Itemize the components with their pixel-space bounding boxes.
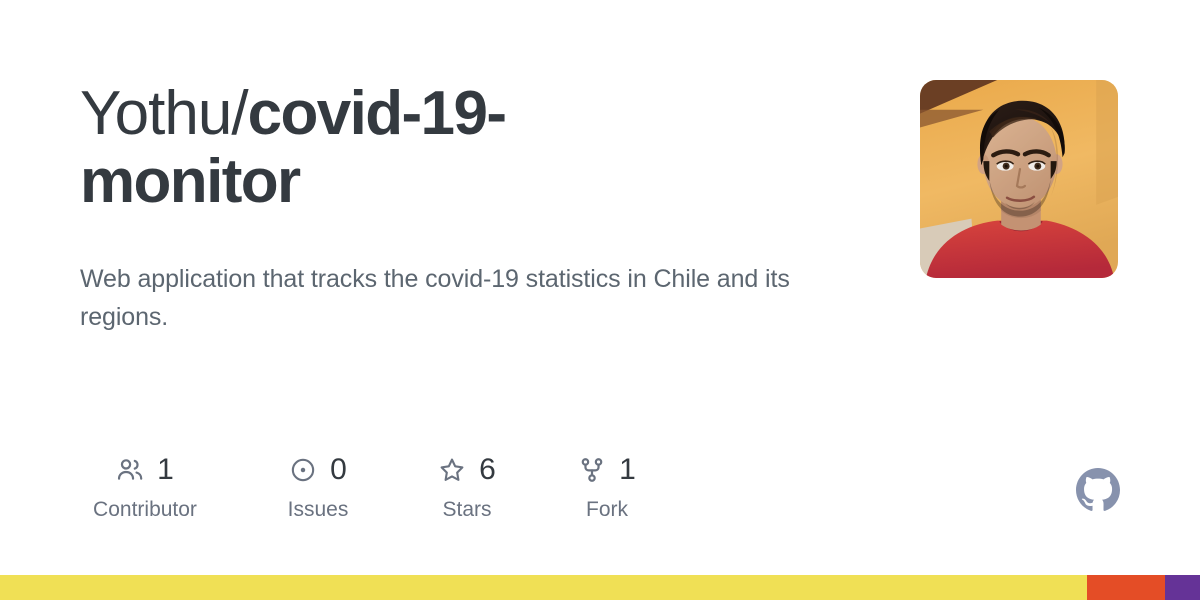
- stat-contributor-top: 1: [116, 452, 174, 488]
- repo-forked-icon: [578, 456, 606, 484]
- language-segment-orange: [1087, 575, 1165, 600]
- stat-contributor-value: 1: [157, 455, 174, 485]
- stat-fork-top: 1: [578, 452, 636, 488]
- avatar: [920, 80, 1118, 278]
- language-segment-yellow: [0, 575, 1087, 600]
- stat-stars-label: Stars: [442, 498, 491, 522]
- github-mark-icon: [1076, 468, 1120, 512]
- repo-name-separator: /: [231, 79, 247, 148]
- repository-social-card: Yothu/covid-19-monitor Web application t…: [0, 0, 1200, 600]
- circle-dot-icon: [289, 456, 317, 484]
- repo-description: Web application that tracks the covid-19…: [80, 260, 840, 336]
- stat-contributor-label: Contributor: [93, 498, 197, 522]
- stat-issues-top: 0: [289, 452, 347, 488]
- repo-owner: Yothu: [80, 79, 231, 148]
- stat-fork: 1 Fork: [570, 452, 644, 522]
- stat-stars-top: 6: [438, 452, 496, 488]
- language-color-bar: [0, 575, 1200, 600]
- avatar-photo: [920, 80, 1118, 278]
- stat-stars: 6 Stars: [426, 452, 508, 522]
- stat-stars-value: 6: [479, 455, 496, 485]
- repo-stats: 1 Contributor 0 Issues: [80, 452, 644, 522]
- stat-fork-label: Fork: [586, 498, 628, 522]
- stat-fork-value: 1: [619, 455, 636, 485]
- stat-issues-value: 0: [330, 455, 347, 485]
- stat-issues-label: Issues: [288, 498, 349, 522]
- star-icon: [438, 456, 466, 484]
- stat-contributor: 1 Contributor: [80, 452, 210, 522]
- stat-issues: 0 Issues: [272, 452, 364, 522]
- repo-info-block: Yothu/covid-19-monitor Web application t…: [80, 80, 870, 336]
- language-segment-purple: [1165, 575, 1200, 600]
- page-title: Yothu/covid-19-monitor: [80, 80, 720, 216]
- people-icon: [116, 456, 144, 484]
